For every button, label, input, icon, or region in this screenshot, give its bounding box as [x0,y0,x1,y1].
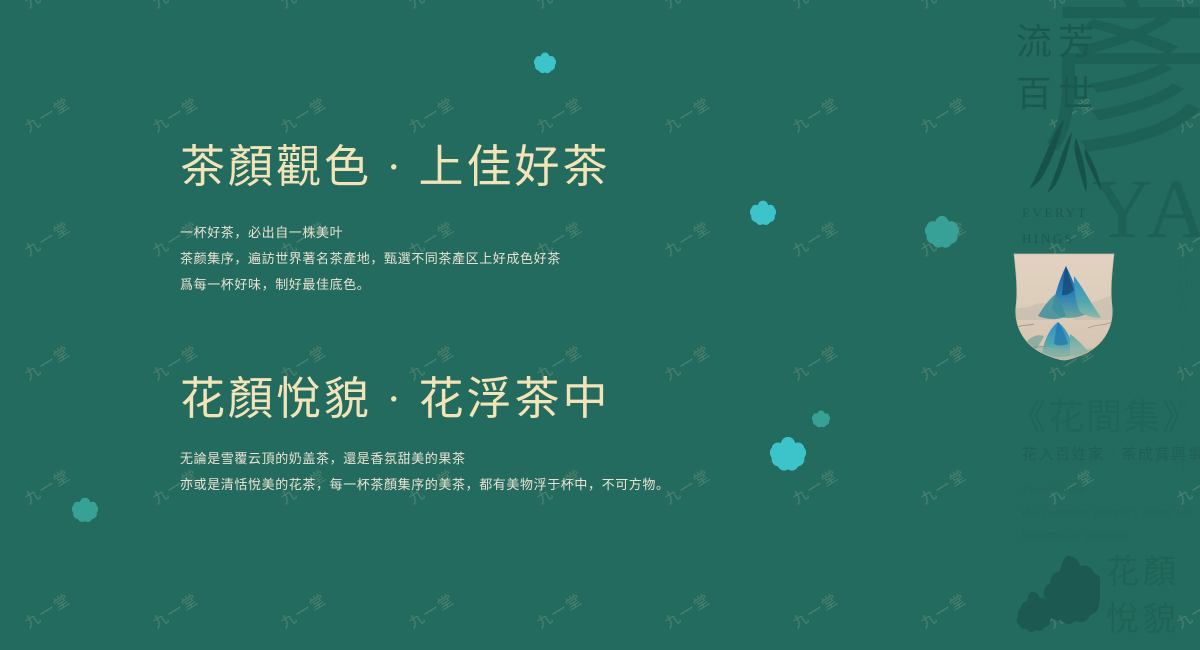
bottom-blossom-cluster [1014,548,1100,639]
body-line: 一杯好茶，必出自一株美叶 [180,220,611,246]
english-line: the common people's home tea [1022,501,1193,524]
bottom-mark-line: 悅貌 [1106,597,1198,644]
body-line: 茶颜集序，遍訪世界著名茶產地，甄選不同茶產区上好成色好茶 [180,246,611,272]
content-block-flower: 花顏悅貌 · 花浮茶中 无論是雪覆云頂的奶盖茶，還是香氛甜美的果茶 亦或是清恬悅… [180,372,670,498]
english-line: Flower into [1022,478,1193,501]
huajianji-subtitle: 花入百姓家 · 茶成賞興事 [1022,443,1200,464]
huajianji-title: 《花間集》 [1010,388,1200,440]
poster-canvas: 九一堂九一堂九一堂九一堂九一堂九一堂九一堂九一堂九一堂九一堂九一堂九一堂九一堂九… [0,0,1200,650]
bottom-mark-huayan-yuemao: 花顏 悅貌 [1106,550,1198,644]
liufang-line: 流芳 [1016,16,1108,68]
main-content: 茶顏觀色 · 上佳好茶 一杯好茶，必出自一株美叶 茶颜集序，遍訪世界著名茶產地，… [0,0,1000,650]
immortal-line: HINGS [1022,226,1112,252]
bottom-mark-line: 花顏 [1106,550,1198,597]
body-line: 爲每一杯好味，制好最佳底色。 [180,272,611,298]
liufang-line: 百世 [1016,68,1108,120]
content-block-tea: 茶顏觀色 · 上佳好茶 一杯好茶，必出自一株美叶 茶颜集序，遍訪世界著名茶產地，… [180,140,611,298]
headline-tea: 茶顏觀色 · 上佳好茶 [180,140,611,194]
body-line: 无論是雪覆云頂的奶盖茶，還是香氛甜美的果茶 [180,446,670,472]
headline-flower: 花顏悅貌 · 花浮茶中 [180,372,670,426]
bamboo-leaf-icon [1020,118,1104,201]
right-panel: 彥 YA 流芳 百世 EVERYT HINGS IMMORTAL [1000,0,1200,650]
english-line: becomes a pleasure [1022,524,1193,547]
immortal-line: EVERYT [1022,200,1112,226]
huajianji-english: Flower into the common people's home tea… [1022,478,1193,547]
teacup-landscape-artwork [1008,250,1120,365]
liufang-baishi: 流芳 百世 [1016,16,1108,120]
body-line: 亦或是清恬悅美的花茶，每一杯茶顏集序的美茶，都有美物浮于杯中，不可方物。 [180,472,670,498]
